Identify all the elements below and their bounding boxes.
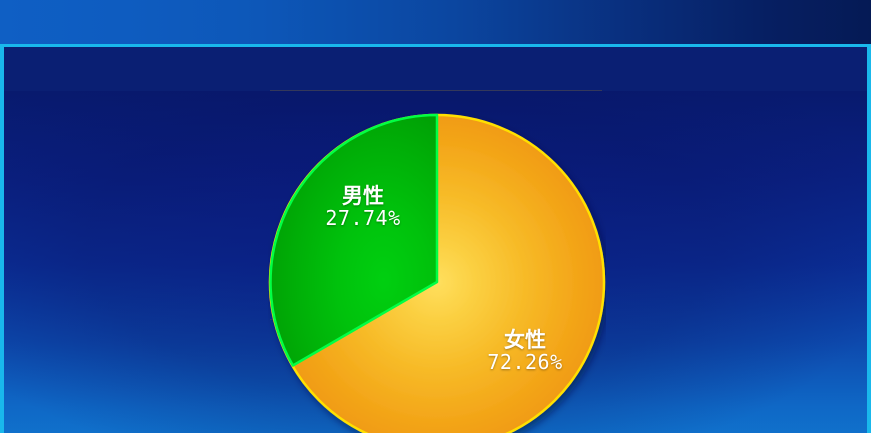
chart-slide: 张家口法轮功学员被绑架（按人次计）男女比例 [0,0,871,433]
gridline-upper [270,90,602,91]
pie-chart [268,113,606,433]
pie-label-male-name: 男性 [288,185,438,208]
plot-area: 男性 27.74% 女性 72.26% [0,44,871,433]
pie-label-female: 女性 72.26% [450,329,600,373]
title-band [0,0,871,44]
pie-chart-svg [268,113,606,433]
pie-label-female-name: 女性 [450,329,600,352]
pie-label-male-value: 27.74% [288,208,438,230]
pie-label-male: 男性 27.74% [288,185,438,229]
pie-label-female-value: 72.26% [450,352,600,374]
